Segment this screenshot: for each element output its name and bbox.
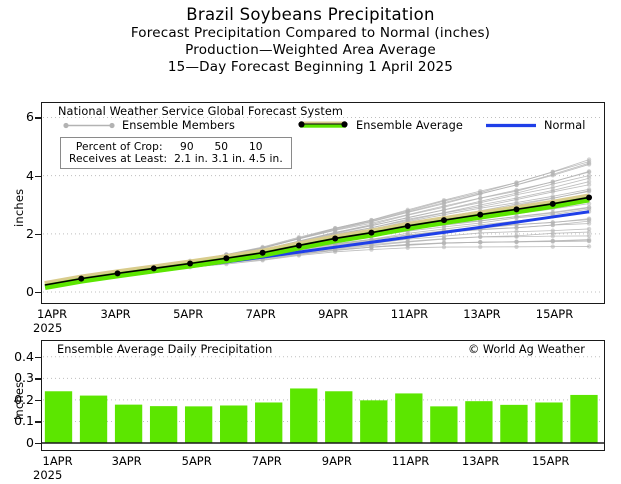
legend-normal-label: Normal	[544, 119, 585, 132]
chart-header: Brazil Soybeans Precipitation Forecast P…	[0, 0, 621, 76]
cumulative-x-tick: 15APR	[536, 307, 573, 321]
daily-y-tick-mark	[35, 443, 41, 444]
daily-y-tick: 0.2	[2, 392, 34, 407]
cumulative-x-axis-year: 2025	[33, 321, 62, 335]
subtitle-line-2: Production—Weighted Area Average	[0, 42, 621, 59]
cumulative-y-tick: 6	[16, 109, 34, 124]
daily-x-tick: 3APR	[112, 454, 142, 468]
legend-normal-icon	[484, 121, 538, 130]
daily-y-tick: 0.3	[2, 370, 34, 385]
daily-x-tick: 13APR	[462, 454, 499, 468]
daily-y-tick: 0	[2, 435, 34, 450]
cumulative-x-tick: 3APR	[101, 307, 131, 321]
daily-chart-title: Ensemble Average Daily Precipitation	[57, 343, 272, 356]
cumulative-y-tick-mark	[35, 292, 41, 293]
daily-y-tick-mark	[35, 378, 41, 379]
copyright-label: © World Ag Weather	[468, 343, 585, 356]
daily-y-tick-mark	[35, 400, 41, 401]
daily-y-tick-mark	[35, 421, 41, 422]
cumulative-y-tick: 4	[16, 168, 34, 183]
cumulative-x-tick: 7APR	[246, 307, 276, 321]
cumulative-plot	[41, 102, 605, 304]
daily-x-tick: 9APR	[322, 454, 352, 468]
legend-model-label: National Weather Service Global Forecast…	[58, 105, 343, 118]
legend-ensemble-members-label: Ensemble Members	[122, 119, 235, 132]
cumulative-x-tick: 13APR	[463, 307, 500, 321]
daily-y-tick: 0.4	[2, 349, 34, 364]
daily-x-tick: 1APR	[43, 454, 73, 468]
subtitle-line-1: Forecast Precipitation Compared to Norma…	[0, 25, 621, 42]
daily-x-tick: 15APR	[532, 454, 569, 468]
legend-ensemble-members-icon	[62, 121, 116, 130]
daily-x-tick: 11APR	[392, 454, 429, 468]
daily-x-tick: 5APR	[182, 454, 212, 468]
cumulative-y-tick-mark	[35, 176, 41, 177]
daily-y-tick: 0.1	[2, 413, 34, 428]
percent-of-crop-table: Percent of Crop: 90 50 10 Receives at Le…	[60, 137, 292, 169]
legend-ensemble-average-icon	[296, 119, 350, 130]
daily-x-tick: 7APR	[252, 454, 282, 468]
cumulative-x-tick: 1APR	[37, 307, 67, 321]
subtitle-line-3: 15—Day Forecast Beginning 1 April 2025	[0, 59, 621, 76]
page-title: Brazil Soybeans Precipitation	[0, 4, 621, 25]
cumulative-y-tick: 2	[16, 226, 34, 241]
cumulative-y-axis-label: inches	[12, 189, 26, 227]
cumulative-x-tick: 9APR	[318, 307, 348, 321]
cumulative-x-tick: 5APR	[173, 307, 203, 321]
cumulative-x-tick: 11APR	[391, 307, 428, 321]
daily-y-tick-mark	[35, 357, 41, 358]
legend-ensemble-average-label: Ensemble Average	[356, 119, 463, 132]
cumulative-y-tick-mark	[35, 117, 41, 118]
daily-x-axis-year: 2025	[33, 468, 62, 482]
cumulative-y-tick-mark	[35, 234, 41, 235]
daily-plot	[41, 340, 605, 451]
cumulative-y-tick: 0	[16, 284, 34, 299]
